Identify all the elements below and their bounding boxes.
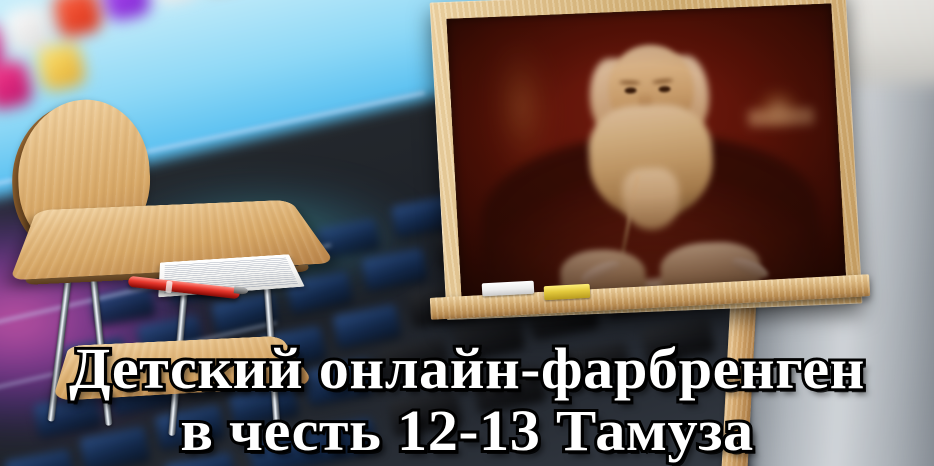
banner-image: Детский онлайн-фарбренген в честь 12-13 …: [0, 0, 934, 466]
pen-tip: [234, 286, 249, 295]
school-desk: [0, 96, 340, 426]
keyboard-key: [332, 304, 401, 349]
eraser-block: [544, 284, 591, 300]
app-icon: [35, 41, 88, 94]
app-icon: [149, 0, 202, 7]
picture-frame: [430, 0, 863, 320]
app-icon: [100, 0, 153, 23]
easel-front-leg: [721, 285, 757, 466]
keyboard-key: [164, 452, 237, 466]
app-icon: [51, 0, 104, 39]
keyboard-key: [79, 426, 150, 466]
easel-with-portrait: [396, 0, 934, 466]
portrait-vignette: [446, 3, 846, 303]
keyboard-key: [5, 449, 76, 466]
portrait-photo: [446, 3, 846, 303]
portrait-content: [446, 3, 846, 303]
